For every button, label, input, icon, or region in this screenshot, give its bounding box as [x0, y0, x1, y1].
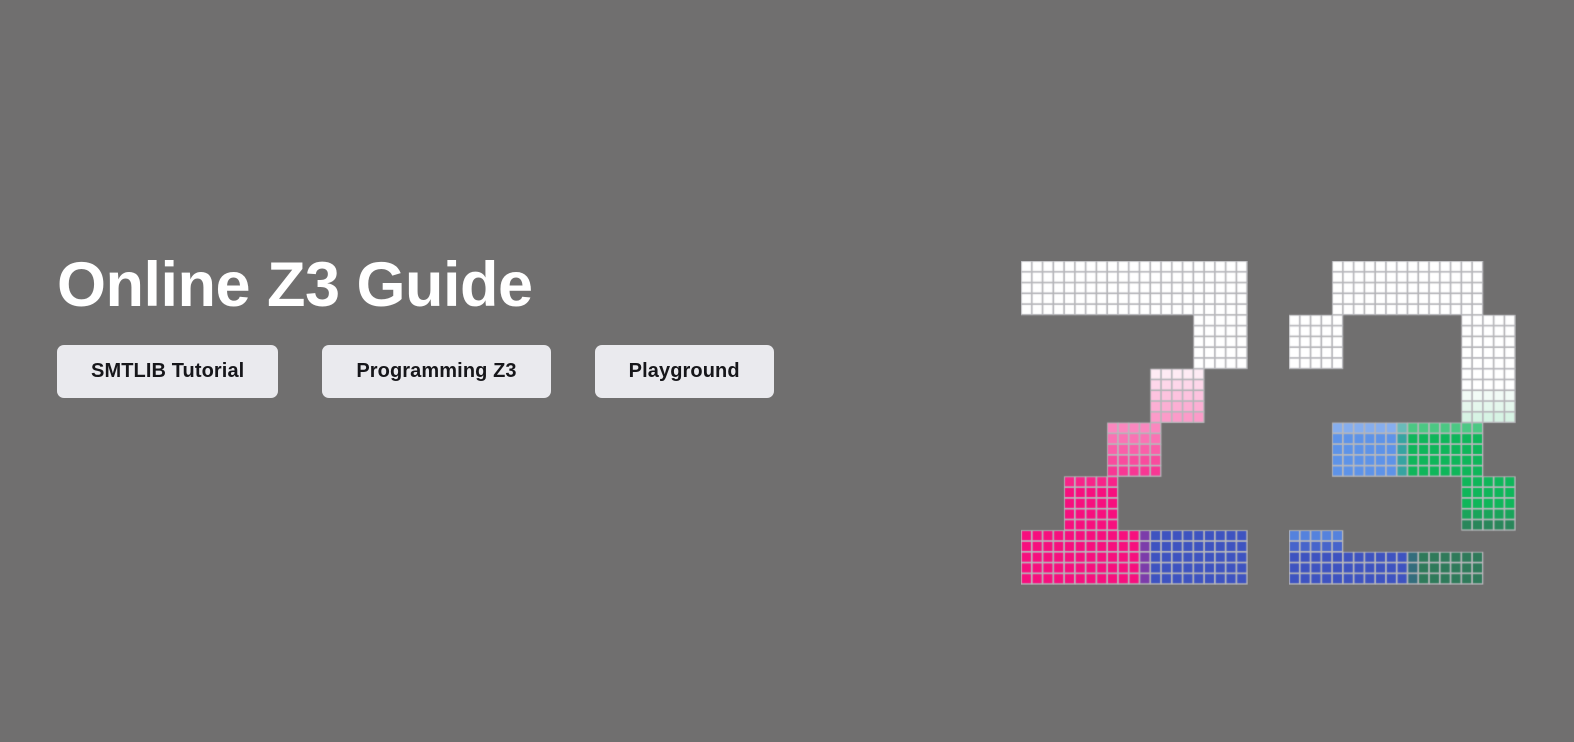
logo-glyph-seven	[1021, 261, 1248, 585]
programming-z3-button[interactable]: Programming Z3	[322, 345, 550, 398]
hero-button-row: SMTLIB Tutorial Programming Z3 Playgroun…	[57, 345, 977, 398]
playground-button[interactable]: Playground	[595, 345, 774, 398]
logo-glyph-three	[1289, 261, 1516, 585]
page-title: Online Z3 Guide	[57, 252, 977, 318]
z3-pixel-logo	[1021, 261, 1516, 585]
smtlib-tutorial-button[interactable]: SMTLIB Tutorial	[57, 345, 278, 398]
page-root: Online Z3 Guide SMTLIB Tutorial Programm…	[0, 0, 1574, 742]
hero-section: Online Z3 Guide SMTLIB Tutorial Programm…	[57, 252, 977, 398]
